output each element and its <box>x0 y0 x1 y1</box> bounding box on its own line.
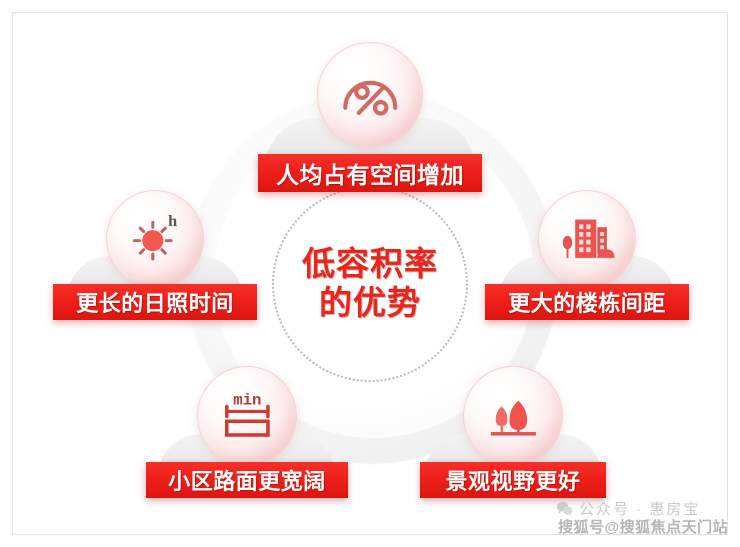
center-title: 低容积率 的优势 <box>272 186 468 382</box>
wechat-icon <box>556 501 573 516</box>
node-label[interactable]: 人均占有空间增加 <box>258 154 482 192</box>
center-title-line-2: 的优势 <box>319 284 421 323</box>
buildings-icon <box>556 208 617 269</box>
trees-landscape-icon <box>482 385 545 448</box>
node-label[interactable]: 景观视野更好 <box>420 462 606 498</box>
node-label[interactable]: 更大的楼栋间距 <box>485 284 689 320</box>
road-width-icon-text: min <box>233 391 261 409</box>
node-right[interactable]: 更大的楼栋间距 <box>472 190 702 332</box>
road-width-icon: min <box>216 385 279 448</box>
icon-sphere <box>317 42 423 148</box>
icon-sphere <box>538 190 636 288</box>
sohu-watermark: 搜狐号@搜狐焦点天门站 <box>558 516 728 537</box>
sun-hours-icon-text: h <box>168 212 177 231</box>
node-bottom-right[interactable]: 景观视野更好 <box>398 366 628 508</box>
icon-sphere: min <box>197 366 297 466</box>
icon-sphere <box>463 366 563 466</box>
percent-gauge-icon <box>337 62 404 129</box>
icon-sphere: h <box>106 190 204 288</box>
node-top[interactable]: 人均占有空间增加 <box>240 26 500 186</box>
center-title-line-1: 低容积率 <box>302 245 438 284</box>
node-label[interactable]: 更长的日照时间 <box>53 284 257 320</box>
sohu-watermark-text: 搜狐号@搜狐焦点天门站 <box>558 516 728 537</box>
node-bottom-left[interactable]: min 小区路面更宽阔 <box>132 366 362 508</box>
node-left[interactable]: h 更长的日照时间 <box>40 190 270 332</box>
infographic-canvas: 低容积率 的优势 人均占有空间增加 <box>0 0 740 547</box>
sun-hours-icon: h <box>124 208 185 269</box>
node-label[interactable]: 小区路面更宽阔 <box>146 462 348 498</box>
